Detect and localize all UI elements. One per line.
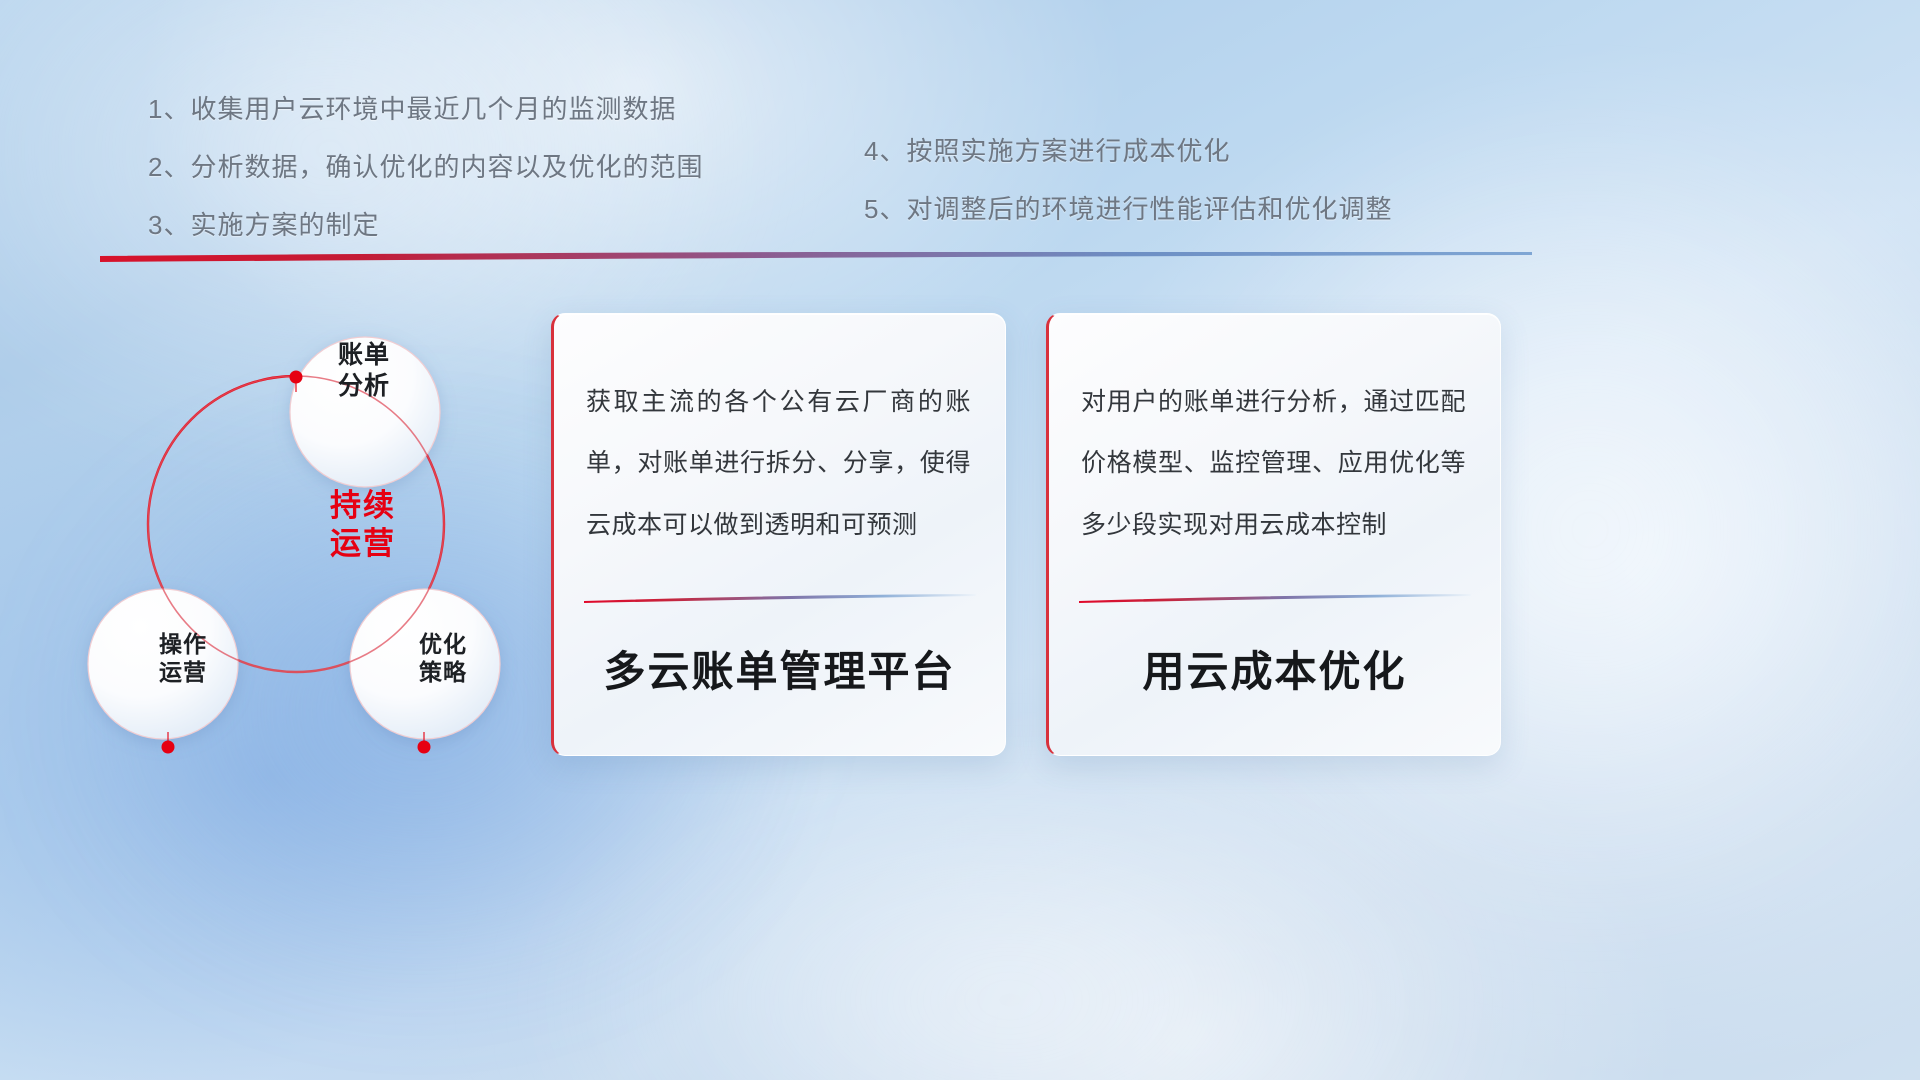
process-steps-right-column: 4、按照实施方案进行成本优化 5、对调整后的环境进行性能评估和优化调整 xyxy=(864,96,1584,270)
slide-canvas: 1、收集用户云环境中最近几个月的监测数据 2、分析数据，确认优化的内容以及优化的… xyxy=(0,0,1920,1080)
card-title: 用云成本优化 xyxy=(1049,638,1500,699)
card-multi-cloud-billing[interactable]: 获取主流的各个公有云厂商的账单，对账单进行拆分、分享，使得云成本可以做到透明和可… xyxy=(551,313,1006,756)
diagram-bubble-bottom-right xyxy=(350,589,500,739)
card-description: 获取主流的各个公有云厂商的账单，对账单进行拆分、分享，使得云成本可以做到透明和可… xyxy=(586,372,971,556)
process-steps: 1、收集用户云环境中最近几个月的监测数据 2、分析数据，确认优化的内容以及优化的… xyxy=(0,96,1920,270)
background-glow-bottom xyxy=(520,740,1500,1080)
card-cloud-cost-optimization[interactable]: 对用户的账单进行分析，通过匹配价格模型、监控管理、应用优化等多少段实现对用云成本… xyxy=(1046,313,1501,756)
card-body: 对用户的账单进行分析，通过匹配价格模型、监控管理、应用优化等多少段实现对用云成本… xyxy=(1049,314,1500,556)
card-accent-bar xyxy=(584,594,976,603)
card-accent-bar xyxy=(1079,594,1471,603)
card-title: 多云账单管理平台 xyxy=(554,638,1005,699)
card-body: 获取主流的各个公有云厂商的账单，对账单进行拆分、分享，使得云成本可以做到透明和可… xyxy=(554,314,1005,556)
step-item: 5、对调整后的环境进行性能评估和优化调整 xyxy=(864,196,1584,222)
step-item: 3、实施方案的制定 xyxy=(148,212,848,238)
process-steps-left-column: 1、收集用户云环境中最近几个月的监测数据 2、分析数据，确认优化的内容以及优化的… xyxy=(148,96,848,270)
diagram-bubble-bottom-left xyxy=(88,589,238,739)
step-item: 1、收集用户云环境中最近几个月的监测数据 xyxy=(148,96,848,122)
step-item: 2、分析数据，确认优化的内容以及优化的范围 xyxy=(148,154,848,180)
continuous-operation-diagram: 账单 分析 持续 运营 操作 运营 优化 策略 xyxy=(78,292,548,772)
card-description: 对用户的账单进行分析，通过匹配价格模型、监控管理、应用优化等多少段实现对用云成本… xyxy=(1081,372,1466,556)
section-divider xyxy=(100,252,1532,264)
step-item: 4、按照实施方案进行成本优化 xyxy=(864,138,1584,164)
diagram-bubble-top xyxy=(290,337,440,487)
